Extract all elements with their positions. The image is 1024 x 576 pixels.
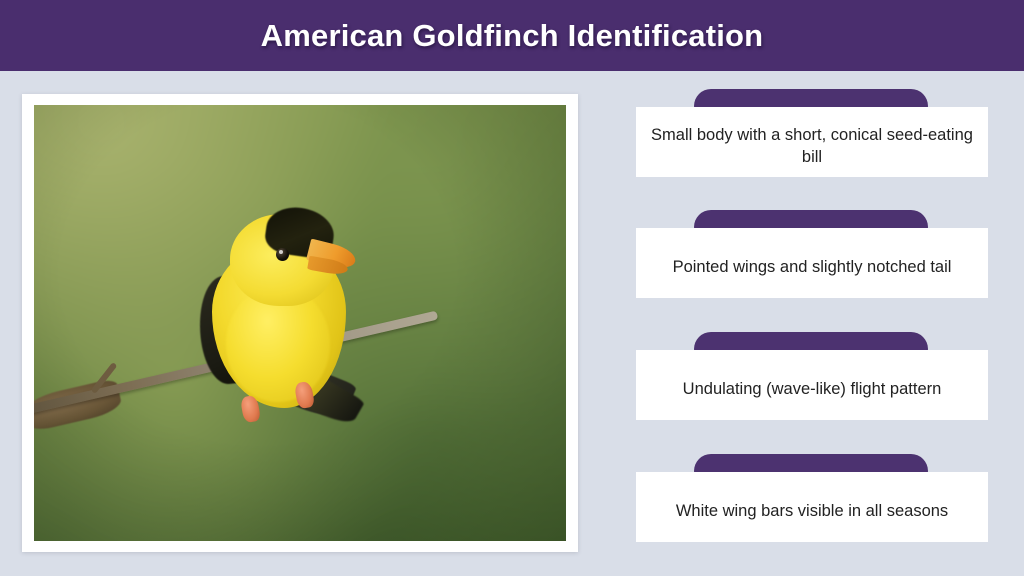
page-title: American Goldfinch Identification [261,18,764,54]
goldfinch-photo [34,105,566,541]
feature-card-list: Small body with a short, conical seed-ea… [636,89,988,554]
card-text-3: Undulating (wave-like) flight pattern [683,379,942,400]
card-body-1: Small body with a short, conical seed-ea… [636,107,988,177]
card-body-4: White wing bars visible in all seasons [636,472,988,542]
photo-vignette [34,105,566,541]
title-bar: American Goldfinch Identification [0,0,1024,71]
card-body-3: Undulating (wave-like) flight pattern [636,350,988,420]
feature-card-1: Small body with a short, conical seed-ea… [636,89,988,177]
card-text-2: Pointed wings and slightly notched tail [673,257,952,278]
feature-card-3: Undulating (wave-like) flight pattern [636,332,988,420]
feature-card-2: Pointed wings and slightly notched tail [636,210,988,298]
card-body-2: Pointed wings and slightly notched tail [636,228,988,298]
card-text-4: White wing bars visible in all seasons [676,501,948,522]
photo-frame [22,94,578,552]
card-text-1: Small body with a short, conical seed-ea… [647,125,977,167]
feature-card-4: White wing bars visible in all seasons [636,454,988,542]
